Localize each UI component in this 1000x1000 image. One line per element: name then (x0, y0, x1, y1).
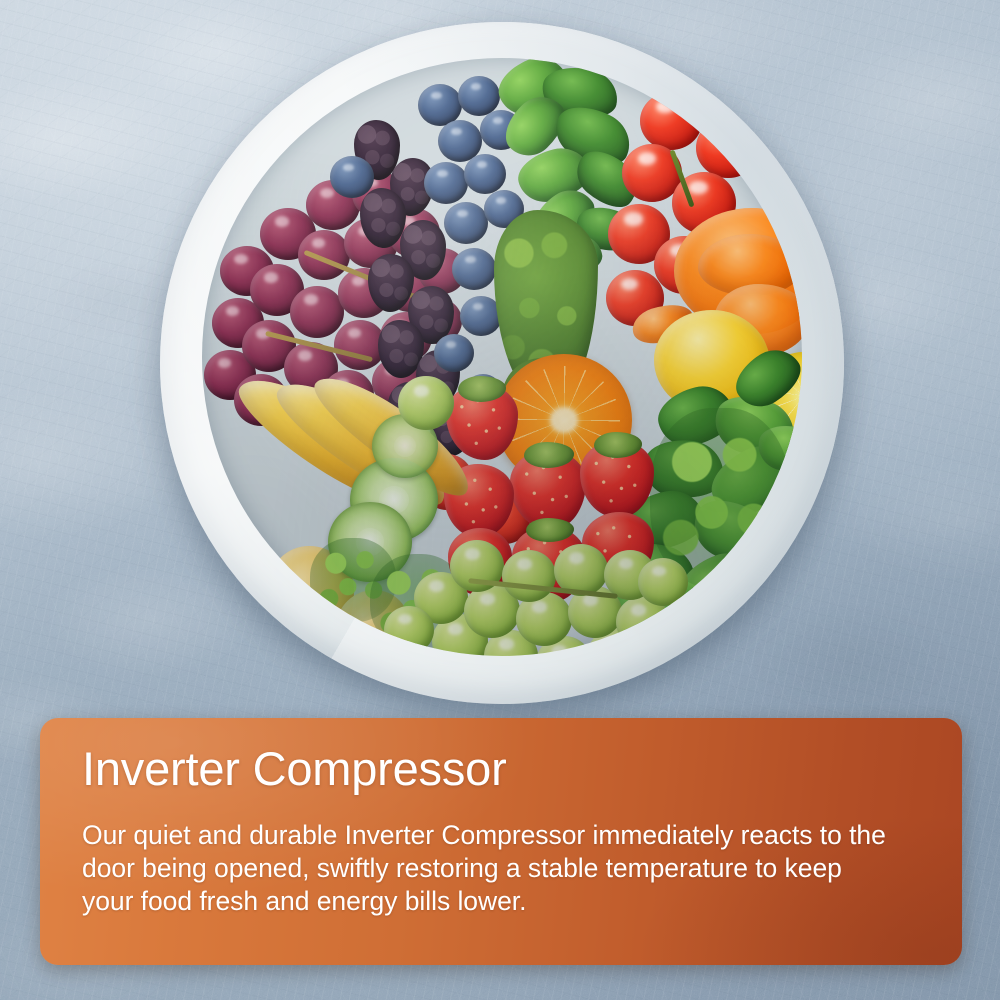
ceramic-plate (160, 22, 844, 704)
card-content: Inverter Compressor Our quiet and durabl… (82, 744, 922, 919)
food-arrangement (202, 58, 802, 656)
feature-callout-card: Inverter Compressor Our quiet and durabl… (40, 718, 962, 965)
feature-heading: Inverter Compressor (82, 744, 922, 795)
product-feature-image: Inverter Compressor Our quiet and durabl… (0, 0, 1000, 1000)
feature-description: Our quiet and durable Inverter Compresso… (82, 819, 887, 919)
